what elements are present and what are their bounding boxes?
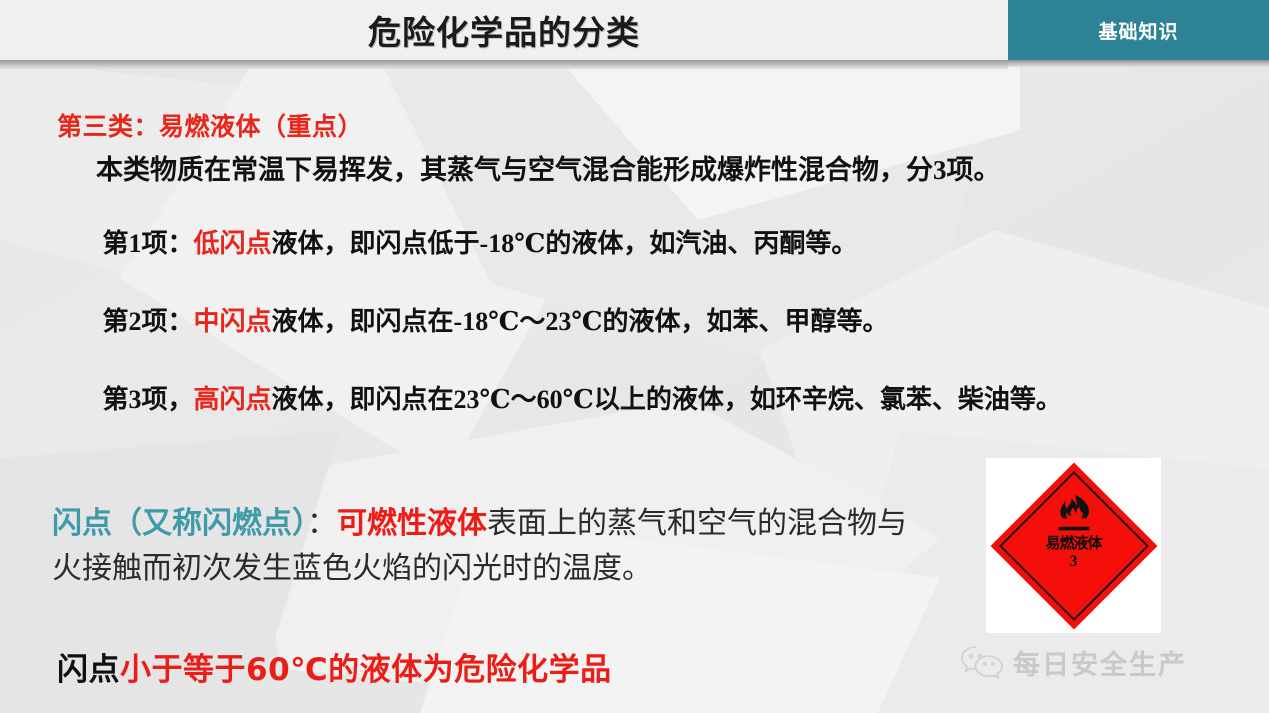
list-item: 第2项：中闪点液体，即闪点在-18℃～23℃的液体，如苯、甲醇等。	[52, 303, 1067, 341]
conclusion-line: 闪点小于等于60℃的液体为危险化学品	[57, 644, 612, 689]
intro-text: 本类物质在常温下易挥发，其蒸气与空气混合能形成爆炸性混合物，分3项。	[96, 155, 1001, 185]
item-rest: 液体，即闪点在23℃～60℃以上的液体，如环辛烷、氯苯、柴油等。	[272, 385, 1062, 414]
placard-label: 易燃液体	[1045, 535, 1101, 551]
definition-colon: ：	[307, 506, 337, 541]
item-keyword: 低闪点	[194, 229, 272, 258]
page-title: 危险化学品的分类	[0, 0, 1008, 60]
list-item: 第3项，高闪点液体，即闪点在23℃～60℃以上的液体，如环辛烷、氯苯、柴油等。	[52, 381, 1062, 419]
watermark: 每日安全生产	[960, 643, 1187, 682]
slide: 危险化学品的分类 基础知识 第三类：易燃液体（重点） 本类物质在常温下易挥发，其…	[0, 0, 1269, 713]
list-item: 第1项：低闪点液体，即闪点低于-18℃的液体，如汽油、丙酮等。	[52, 225, 1067, 263]
item-keyword: 中闪点	[194, 307, 272, 336]
header-divider	[0, 60, 1008, 69]
item-prefix: 第3项，	[103, 385, 194, 414]
placard-content: 易燃液体 3	[986, 458, 1161, 633]
hazard-placard: 易燃液体 3	[986, 458, 1161, 633]
definition-term: 闪点	[52, 506, 112, 541]
section-badge: 基础知识	[1008, 0, 1269, 60]
header-divider-right	[1008, 60, 1269, 67]
conclusion-black: 闪点	[57, 652, 120, 688]
slide-header: 危险化学品的分类 基础知识	[0, 0, 1269, 60]
conclusion-red: 小于等于60℃的液体为危险化学品	[120, 652, 612, 688]
intro-paragraph: 本类物质在常温下易挥发，其蒸气与空气混合能形成爆炸性混合物，分3项。	[52, 149, 1062, 191]
item-keyword: 高闪点	[194, 385, 272, 414]
item-prefix: 第2项：	[103, 307, 194, 336]
item-rest: 液体，即闪点在-18℃～23℃的液体，如苯、甲醇等。	[272, 307, 889, 336]
item-rest: 液体，即闪点低于-18℃的液体，如汽油、丙酮等。	[272, 229, 858, 258]
definition-highlight: 可燃性液体	[337, 506, 487, 541]
section-heading: 第三类：易燃液体（重点）	[57, 107, 363, 143]
definition-block: 闪点（又称闪燃点）：可燃性液体表面上的蒸气和空气的混合物与火接触而初次发生蓝色火…	[52, 501, 922, 591]
item-prefix: 第1项：	[103, 229, 194, 258]
definition-term-alias: （又称闪燃点）	[112, 506, 307, 541]
wechat-icon	[960, 645, 1004, 681]
watermark-text: 每日安全生产	[1013, 643, 1187, 682]
flame-icon	[1052, 494, 1096, 534]
placard-class-number: 3	[1070, 553, 1078, 570]
